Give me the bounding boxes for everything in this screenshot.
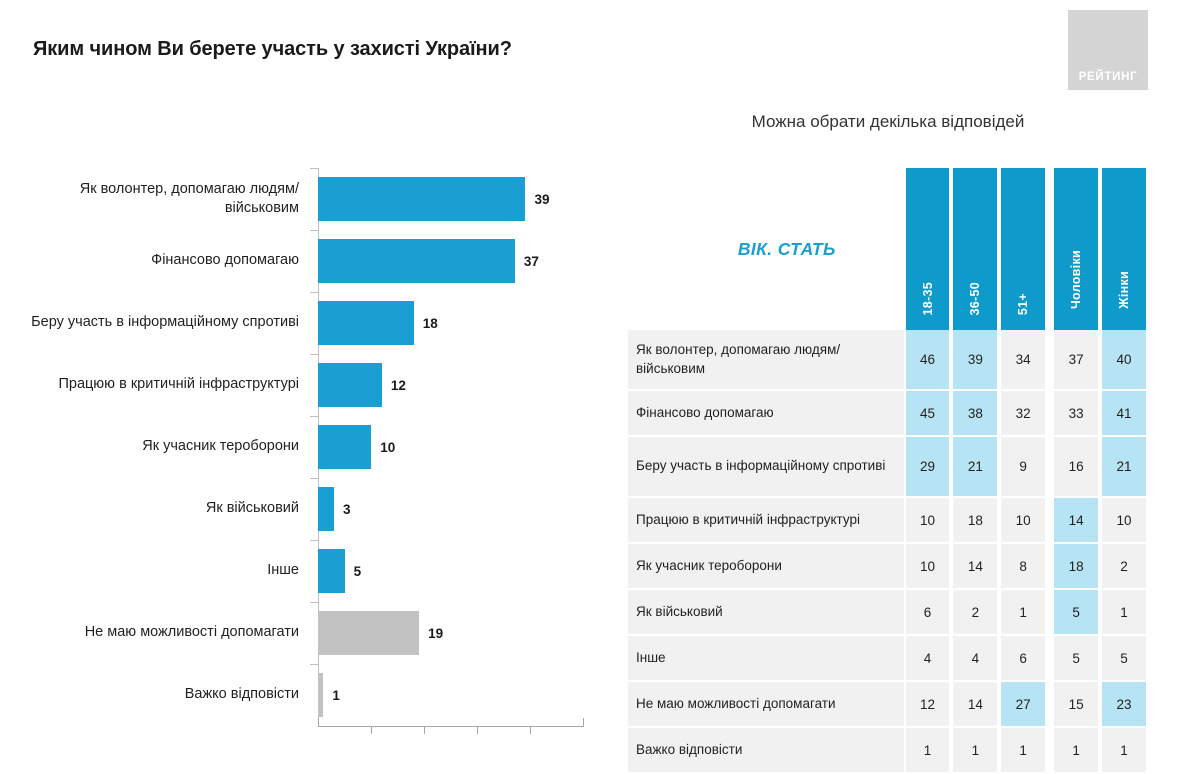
chart-bar [318, 487, 334, 531]
table-cell: 12 [904, 682, 952, 728]
column-header-label: 51+ [1016, 293, 1030, 315]
row-label: Беру участь в інформаційному спротиві [628, 437, 904, 498]
table-cell: 8 [999, 544, 1047, 590]
chart-bar-row: Інше 5 [0, 540, 600, 602]
crosstab: ВІК. СТАТЬ 18-35 36-50 51+ Чоловіки Жінк… [628, 168, 1148, 774]
x-axis-tick [530, 727, 531, 734]
row-label: Як військовий [628, 590, 904, 636]
chart-bar-track: 10 [318, 416, 600, 478]
chart-category-label: Важко відповісти [23, 664, 299, 726]
chart-bar-value: 12 [382, 354, 406, 416]
table-cell: 38 [951, 391, 999, 437]
chart-bar-track: 37 [318, 230, 600, 292]
table-cell: 1 [1052, 728, 1100, 774]
table-cell: 34 [999, 330, 1047, 391]
table-row: Як учасник тероборони 10 14 8 18 2 [628, 544, 1148, 590]
chart-bar [318, 363, 382, 407]
table-cell: 15 [1052, 682, 1100, 728]
table-cell: 33 [1052, 391, 1100, 437]
table-row: Фінансово допомагаю 45 38 32 33 41 [628, 391, 1148, 437]
table-cell: 1 [904, 728, 952, 774]
table-cell: 6 [999, 636, 1047, 682]
chart-bar [318, 177, 525, 221]
row-label: Фінансово допомагаю [628, 391, 904, 437]
chart-bar-row: Не маю можливості допомагати 19 [0, 602, 600, 664]
column-header-women: Жінки [1100, 168, 1148, 330]
chart-bar-row: Беру участь в інформаційному спротиві 18 [0, 292, 600, 354]
chart-bar-track: 39 [318, 168, 600, 230]
row-label: Як волонтер, допомагаю людям/військовим [628, 330, 904, 391]
row-label: Важко відповісти [628, 728, 904, 774]
table-cell: 1 [1100, 590, 1148, 636]
chart-bar [318, 425, 371, 469]
table-cell: 40 [1100, 330, 1148, 391]
column-header-label: Чоловіки [1069, 250, 1083, 309]
table-cell: 4 [904, 636, 952, 682]
column-header-18-35: 18-35 [904, 168, 952, 330]
table-row: Як волонтер, допомагаю людям/військовим … [628, 330, 1148, 391]
x-axis-tick [477, 727, 478, 734]
chart-bar [318, 549, 345, 593]
table-cell: 18 [951, 498, 999, 544]
chart-bar-rows: Як волонтер, допомагаю людям/військовим … [0, 168, 600, 726]
table-cell: 2 [951, 590, 999, 636]
column-header-men: Чоловіки [1052, 168, 1100, 330]
table-cell: 18 [1052, 544, 1100, 590]
chart-bar-value: 39 [525, 168, 549, 230]
table-cell: 23 [1100, 682, 1148, 728]
column-header-label: Жінки [1117, 271, 1131, 309]
x-axis-tick [371, 727, 372, 734]
chart-bar-value: 10 [371, 416, 395, 478]
chart-bar-track: 18 [318, 292, 600, 354]
table-cell: 39 [951, 330, 999, 391]
chart-bar [318, 611, 419, 655]
chart-bar-track: 1 [318, 664, 600, 726]
brand-logo-label: РЕЙТИНГ [1068, 71, 1148, 83]
table-cell: 46 [904, 330, 952, 391]
chart-bar-value: 37 [515, 230, 539, 292]
chart-bar-row: Як учасник тероборони 10 [0, 416, 600, 478]
table-header-row: ВІК. СТАТЬ 18-35 36-50 51+ Чоловіки Жінк… [628, 168, 1148, 330]
chart-category-label: Як військовий [23, 478, 299, 540]
table-cell: 14 [1052, 498, 1100, 544]
table-cell: 5 [1052, 636, 1100, 682]
chart-category-label: Не маю можливості допомагати [23, 602, 299, 664]
row-label: Не маю можливості допомагати [628, 682, 904, 728]
chart-bar-value: 18 [414, 292, 438, 354]
chart-bar-track: 5 [318, 540, 600, 602]
chart-bar-value: 19 [419, 602, 443, 664]
chart-category-label: Фінансово допомагаю [23, 230, 299, 292]
chart-category-label: Беру участь в інформаційному спротиві [23, 292, 299, 354]
row-label: Інше [628, 636, 904, 682]
chart-bar-row: Працюю в критичній інфраструктурі 12 [0, 354, 600, 416]
chart-bar-value: 5 [345, 540, 362, 602]
row-label: Як учасник тероборони [628, 544, 904, 590]
table-row: Працюю в критичній інфраструктурі 10 18 … [628, 498, 1148, 544]
table-corner-title: ВІК. СТАТЬ [628, 168, 904, 330]
column-header-51plus: 51+ [999, 168, 1047, 330]
table-cell: 41 [1100, 391, 1148, 437]
page-title: Яким чином Ви берете участь у захисті Ук… [33, 38, 512, 61]
table-cell: 5 [1100, 636, 1148, 682]
table-cell: 5 [1052, 590, 1100, 636]
table-cell: 45 [904, 391, 952, 437]
table-cell: 1 [1100, 728, 1148, 774]
column-header-36-50: 36-50 [951, 168, 999, 330]
chart-category-label: Як учасник тероборони [23, 416, 299, 478]
table-row: Беру участь в інформаційному спротиві 29… [628, 437, 1148, 498]
chart-x-axis [318, 726, 584, 727]
chart-bar-row: Як волонтер, допомагаю людям/військовим … [0, 168, 600, 230]
chart-bar-track: 19 [318, 602, 600, 664]
table-cell: 32 [999, 391, 1047, 437]
table-cell: 4 [951, 636, 999, 682]
table-cell: 6 [904, 590, 952, 636]
table-cell: 10 [904, 498, 952, 544]
bar-chart: Як волонтер, допомагаю людям/військовим … [0, 168, 600, 748]
table-cell: 16 [1052, 437, 1100, 498]
column-header-label: 36-50 [968, 282, 982, 315]
chart-bar-track: 12 [318, 354, 600, 416]
table-row: Як військовий 6 2 1 5 1 [628, 590, 1148, 636]
chart-category-label: Працюю в критичній інфраструктурі [23, 354, 299, 416]
chart-bar-track: 3 [318, 478, 600, 540]
table-cell: 1 [951, 728, 999, 774]
table-cell: 37 [1052, 330, 1100, 391]
brand-logo: РЕЙТИНГ [1068, 10, 1148, 90]
row-label: Працюю в критичній інфраструктурі [628, 498, 904, 544]
table-cell: 29 [904, 437, 952, 498]
chart-category-label: Як волонтер, допомагаю людям/військовим [23, 168, 299, 230]
table-cell: 1 [999, 728, 1047, 774]
chart-category-label: Інше [23, 540, 299, 602]
table-body: Як волонтер, допомагаю людям/військовим … [628, 330, 1148, 774]
table-cell: 10 [904, 544, 952, 590]
chart-bar-value: 1 [323, 664, 340, 726]
table-cell: 10 [999, 498, 1047, 544]
table-cell: 2 [1100, 544, 1148, 590]
table-cell: 14 [951, 544, 999, 590]
multiple-answers-note: Можна обрати декілька відповідей [628, 112, 1148, 132]
table-cell: 1 [999, 590, 1047, 636]
table-cell: 21 [951, 437, 999, 498]
table-row: Інше 4 4 6 5 5 [628, 636, 1148, 682]
x-axis-tick [424, 727, 425, 734]
table-cell: 14 [951, 682, 999, 728]
breakdown-table: ВІК. СТАТЬ 18-35 36-50 51+ Чоловіки Жінк… [628, 168, 1148, 740]
chart-bar [318, 301, 414, 345]
chart-bar [318, 239, 515, 283]
table-cell: 9 [999, 437, 1047, 498]
table-row: Важко відповісти 1 1 1 1 1 [628, 728, 1148, 774]
chart-bar-row: Як військовий 3 [0, 478, 600, 540]
chart-bar-value: 3 [334, 478, 351, 540]
chart-bar-row: Важко відповісти 1 [0, 664, 600, 726]
table-row: Не маю можливості допомагати 12 14 27 15… [628, 682, 1148, 728]
table-cell: 21 [1100, 437, 1148, 498]
column-header-label: 18-35 [921, 282, 935, 315]
table-cell: 27 [999, 682, 1047, 728]
table-cell: 10 [1100, 498, 1148, 544]
chart-bar-row: Фінансово допомагаю 37 [0, 230, 600, 292]
